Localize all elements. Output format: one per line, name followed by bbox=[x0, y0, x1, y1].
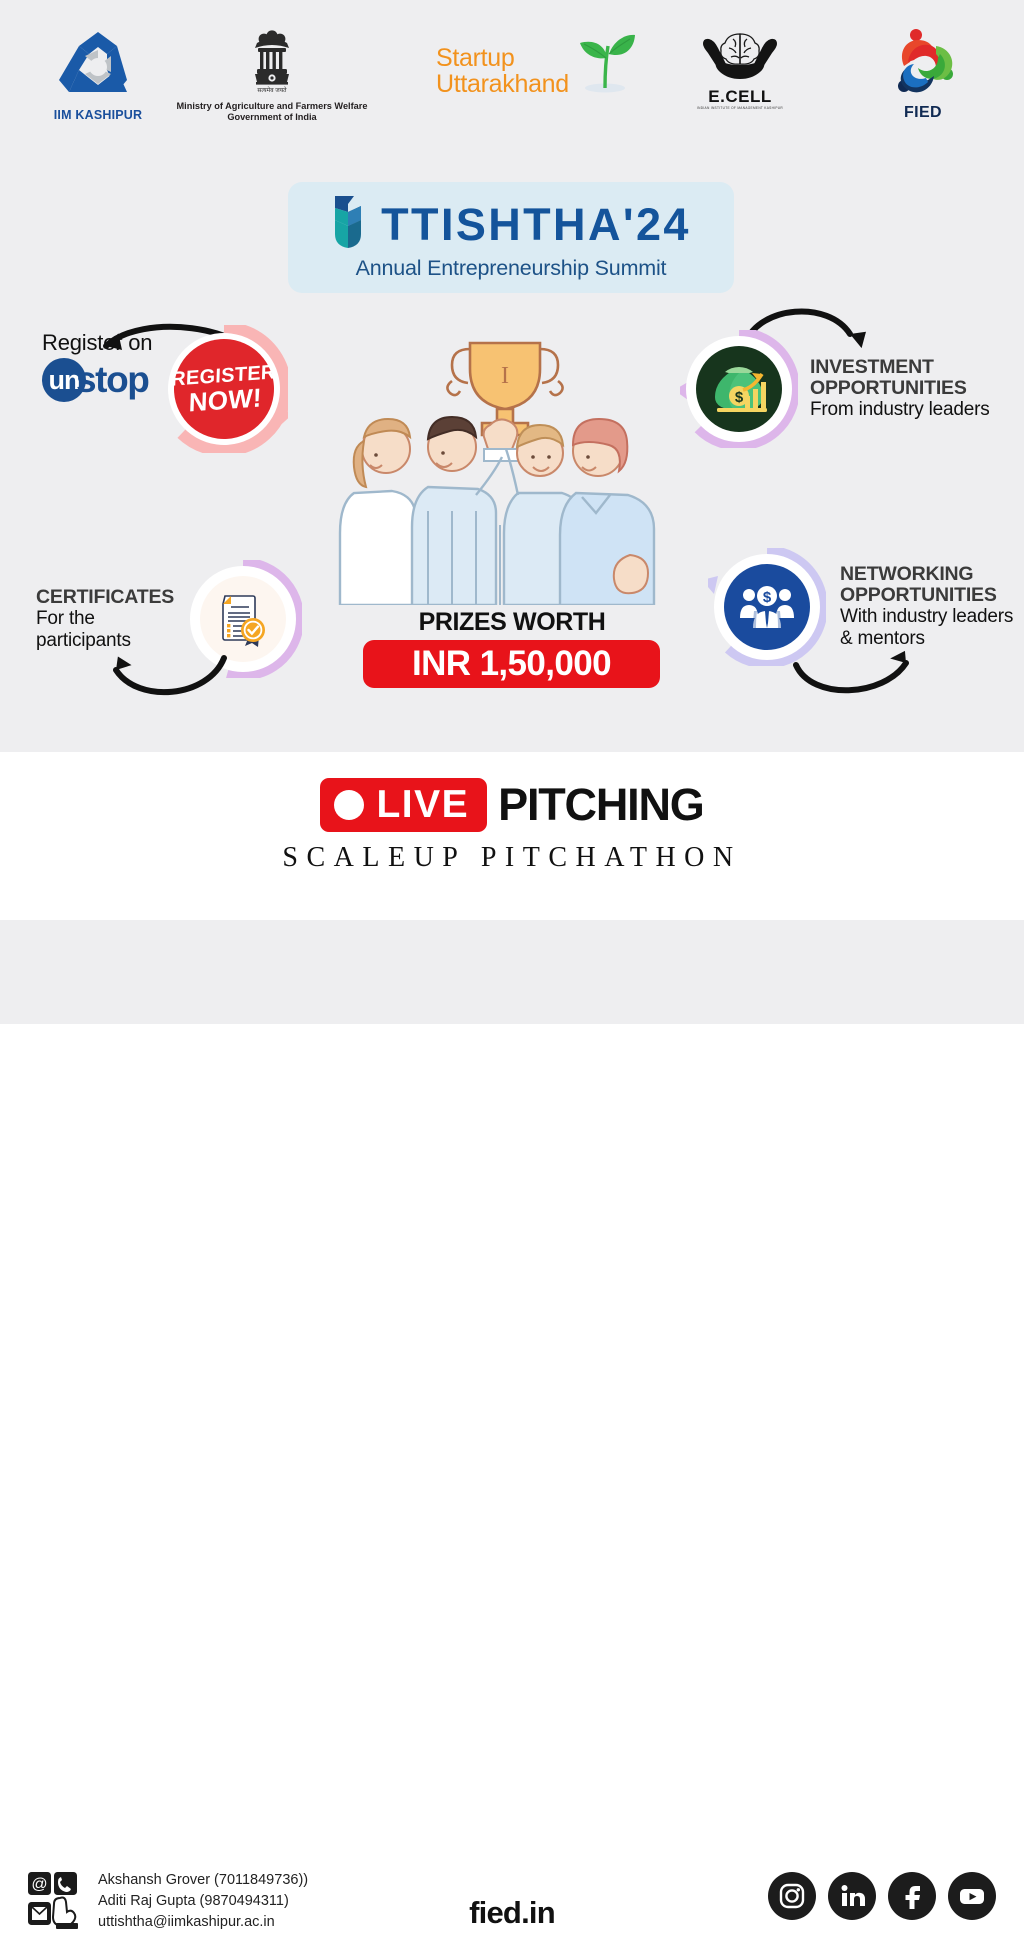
logo-iim-kashipur: IIM KASHIPUR bbox=[38, 30, 158, 122]
register-now-badge[interactable]: REGISTER NOW! bbox=[160, 325, 288, 453]
investment-heading-line-1: INVESTMENT bbox=[810, 357, 990, 378]
ashoka-emblem-icon: सत्यमेव जयते bbox=[248, 26, 296, 100]
instagram-icon[interactable] bbox=[768, 1872, 816, 1920]
certificates-heading: CERTIFICATES bbox=[36, 587, 174, 608]
fied-swirl-icon bbox=[884, 28, 962, 102]
logo-fied: FIED bbox=[868, 28, 978, 122]
svg-text:$: $ bbox=[735, 389, 744, 406]
investment-heading-line-2: OPPORTUNITIES bbox=[810, 378, 990, 399]
facebook-icon[interactable] bbox=[888, 1872, 936, 1920]
event-title: TTISHTHA'24 bbox=[381, 202, 691, 248]
youtube-icon[interactable] bbox=[948, 1872, 996, 1920]
event-subtitle: Annual Entrepreneurship Summit bbox=[356, 256, 667, 281]
investment-badge: $ bbox=[680, 330, 798, 448]
live-label: LIVE bbox=[376, 783, 469, 827]
ministry-line-1: Ministry of Agriculture and Farmers Welf… bbox=[177, 101, 368, 112]
money-bag-growth-icon: $ bbox=[709, 360, 769, 418]
pitching-title: PITCHING bbox=[498, 779, 703, 831]
logo-e-cell: E.CELL INDIAN INSTITUTE OF MANAGEMENT KA… bbox=[690, 30, 790, 110]
iim-kashipur-mark-icon bbox=[55, 30, 141, 102]
footer-band: @ Akshansh Grover (7011849736)) Aditi Ra… bbox=[0, 920, 1024, 1024]
prize-amount-pill: INR 1,50,000 bbox=[363, 640, 660, 688]
startup-uttarakhand-line-1: Startup bbox=[436, 46, 515, 71]
sprout-leaf-icon bbox=[572, 32, 638, 99]
prize-amount: INR 1,50,000 bbox=[412, 644, 611, 684]
arrow-to-networking-icon bbox=[790, 645, 925, 705]
e-cell-sublabel: INDIAN INSTITUTE OF MANAGEMENT KASHIPUR bbox=[697, 106, 783, 110]
arrow-to-certificates-icon bbox=[104, 648, 234, 708]
live-badge: LIVE bbox=[320, 778, 487, 832]
logo-startup-uttarakhand: Startup Uttarakhand bbox=[436, 46, 626, 98]
ministry-label: Ministry of Agriculture and Farmers Welf… bbox=[177, 101, 368, 123]
iim-kashipur-label: IIM KASHIPUR bbox=[54, 108, 143, 122]
svg-text:$: $ bbox=[763, 589, 772, 606]
linkedin-icon[interactable] bbox=[828, 1872, 876, 1920]
event-title-banner: TTISHTHA'24 Annual Entrepreneurship Summ… bbox=[288, 182, 734, 293]
live-pitching-row: LIVE PITCHING bbox=[0, 778, 1024, 832]
networking-text: NETWORKING OPPORTUNITIES With industry l… bbox=[840, 564, 1013, 650]
investment-body: From industry leaders bbox=[810, 399, 990, 421]
poster-root: IIM KASHIPUR सत्यमेव जयते bbox=[0, 0, 1024, 1024]
fied-label: FIED bbox=[904, 104, 942, 122]
startup-uttarakhand-line-2: Uttarakhand bbox=[436, 71, 569, 98]
social-links bbox=[768, 1872, 996, 1920]
svg-text:@: @ bbox=[31, 1876, 47, 1893]
live-record-dot-icon bbox=[334, 790, 364, 820]
networking-heading-line-1: NETWORKING bbox=[840, 564, 1013, 585]
contact-line-1: Akshansh Grover (7011849736)) bbox=[98, 1870, 308, 1891]
team-trophy-illustration: I bbox=[330, 325, 680, 605]
prizes-label: PRIZES WORTH bbox=[0, 608, 1024, 637]
sponsor-logo-band: IIM KASHIPUR सत्यमेव जयते bbox=[0, 0, 1024, 152]
logo-ministry-of-agriculture: सत्यमेव जयते Ministry of Agriculture and… bbox=[174, 26, 370, 123]
e-cell-label: E.CELL bbox=[708, 88, 771, 105]
uttishtha-u-logo-icon bbox=[331, 194, 379, 255]
investment-text: INVESTMENT OPPORTUNITIES From industry l… bbox=[810, 357, 990, 421]
feature-investment: $ INVESTMENT OPPORTUNITIES From industry… bbox=[680, 330, 1020, 448]
svg-text:I: I bbox=[501, 363, 509, 389]
networking-heading-line-2: OPPORTUNITIES bbox=[840, 585, 1013, 606]
ministry-line-2: Government of India bbox=[177, 112, 368, 123]
register-now-line-2: NOW! bbox=[188, 384, 262, 415]
svg-text:सत्यमेव जयते: सत्यमेव जयते bbox=[257, 86, 287, 94]
pitchathon-subtitle: SCALEUP PITCHATHON bbox=[0, 842, 1024, 874]
brain-in-hands-icon bbox=[697, 30, 783, 88]
